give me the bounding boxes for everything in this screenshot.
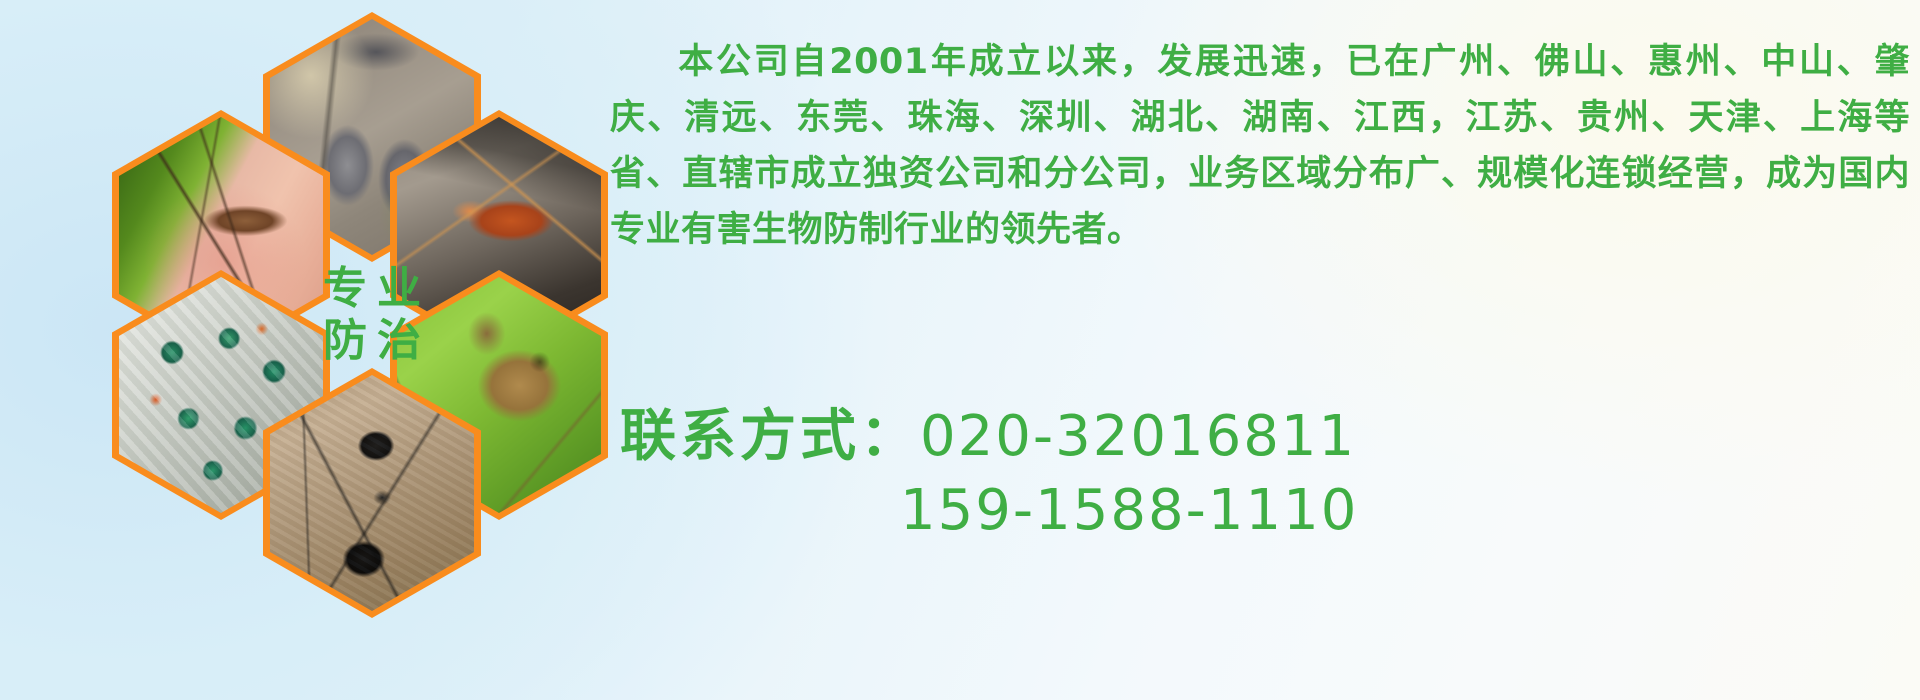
contact-landline-row[interactable]: 联系方式：020-32016811 <box>610 400 1910 474</box>
banner-content: 本公司自2001年成立以来，发展迅速，已在广州、佛山、惠州、中山、肇庆、清远、东… <box>610 0 1920 700</box>
intro-paragraph: 本公司自2001年成立以来，发展迅速，已在广州、佛山、惠州、中山、肇庆、清远、东… <box>610 34 1910 258</box>
hex-center-label: 专业 防治 <box>263 190 481 440</box>
contact-label: 联系方式： <box>620 404 920 469</box>
hex-center-label-line2: 防治 <box>313 318 431 364</box>
contact-block: 联系方式：020-32016811 159-1588-1110 <box>610 400 1910 548</box>
banner: 专业 防治 本公司自2001年成立以来，发展迅速，已在广州、佛山、惠州、中山、肇… <box>0 0 1920 700</box>
hex-center-label-line1: 专业 <box>313 266 431 312</box>
contact-landline-number: 020-32016811 <box>920 404 1356 469</box>
hexagon-photo-cluster: 专业 防治 <box>0 0 620 700</box>
intro-paragraph-text: 本公司自2001年成立以来，发展迅速，已在广州、佛山、惠州、中山、肇庆、清远、东… <box>610 42 1910 250</box>
contact-mobile-number: 159-1588-1110 <box>900 478 1358 543</box>
contact-mobile-row[interactable]: 159-1588-1110 <box>610 474 1910 548</box>
